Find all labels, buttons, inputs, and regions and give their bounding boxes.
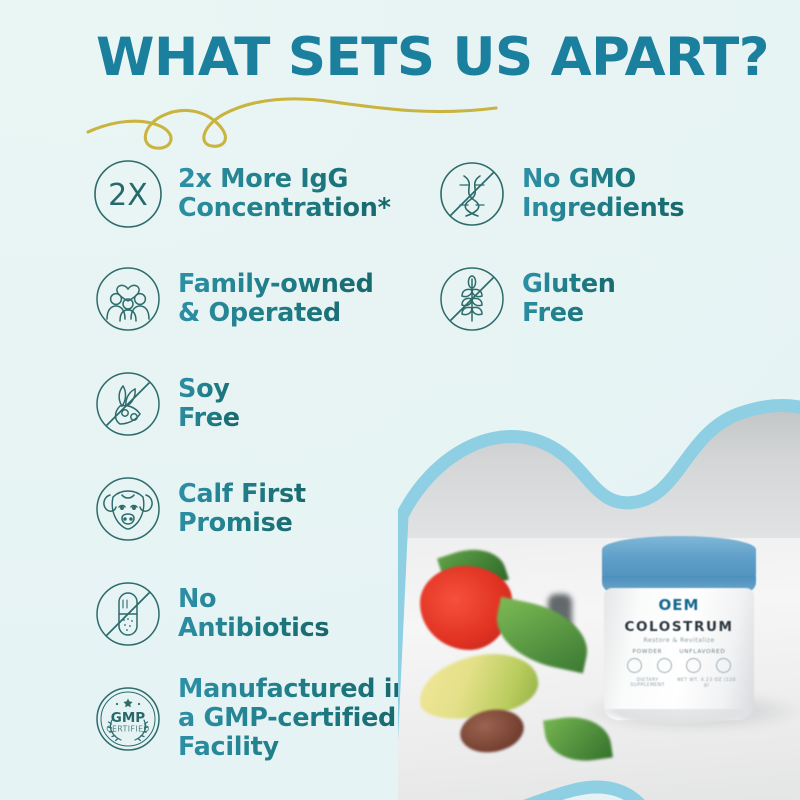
colostrum-jar: OEM COLOSTRUM Restore & Revitalize POWDE…: [598, 536, 760, 726]
product-photo-frame: OEM COLOSTRUM Restore & Revitalize POWDE…: [398, 398, 800, 800]
jar-supplement-text: DIETARY SUPPLEMENT: [620, 678, 675, 688]
jar-product-name: COLOSTRUM: [614, 619, 744, 635]
no-gluten-wheat-icon: [436, 263, 508, 335]
feature-label: Family-owned & Operated: [178, 270, 374, 328]
gmp-certified-badge-icon: GMP CERTIFIED: [92, 683, 164, 755]
product-photo-blob: OEM COLOSTRUM Restore & Revitalize POWDE…: [398, 398, 800, 800]
feature-calf-first-promise[interactable]: Calf First Promise: [92, 473, 306, 545]
cow-head-icon: [92, 473, 164, 545]
feature-label: No Antibiotics: [178, 585, 329, 643]
jar-label: OEM COLOSTRUM Restore & Revitalize POWDE…: [614, 596, 744, 688]
jar-tagline: Restore & Revitalize: [614, 637, 744, 644]
feature-gluten-free[interactable]: Gluten Free: [436, 263, 616, 335]
2x-icon-text: 2X: [108, 178, 148, 213]
feature-label: 2x More IgG Concentration*: [178, 165, 391, 223]
no-gmo-dna-icon: [436, 158, 508, 230]
2x-circle-icon: 2X: [92, 158, 164, 230]
feature-no-gmo[interactable]: No GMO Ingredients: [436, 158, 684, 230]
jar-brand: OEM: [614, 596, 744, 614]
jar-form: POWDER: [633, 649, 663, 655]
gold-squiggle-decoration: [84, 92, 504, 152]
feature-family-owned[interactable]: Family-owned & Operated: [92, 263, 374, 335]
feature-soy-free[interactable]: Soy Free: [92, 368, 240, 440]
jar-badge-icon-1: [627, 658, 642, 673]
feature-no-antibiotics[interactable]: No Antibiotics: [92, 578, 329, 650]
feature-label: Calf First Promise: [178, 480, 306, 538]
feature-label: Soy Free: [178, 375, 240, 433]
feature-gmp-facility[interactable]: GMP CERTIFIED Manufactured in a GMP-cert…: [92, 675, 410, 762]
feature-label: No GMO Ingredients: [522, 165, 684, 223]
jar-badge-icon-2: [657, 658, 672, 673]
no-antibiotics-pill-icon: [92, 578, 164, 650]
feature-label: Manufactured in a GMP-certified Facility: [178, 675, 410, 762]
jar-flavor: UNFLAVORED: [679, 649, 725, 655]
feature-label: Gluten Free: [522, 270, 616, 328]
no-soy-bean-icon: [92, 368, 164, 440]
infographic-canvas: WHAT SETS US APART? 2X 2x More IgG Conce…: [0, 0, 800, 800]
feature-igg-concentration[interactable]: 2X 2x More IgG Concentration*: [92, 158, 391, 230]
jar-net-weight: NET WT. 4.23 OZ (120 g): [675, 678, 738, 688]
jar-badge-icon-4: [716, 658, 731, 673]
page-title: WHAT SETS US APART?: [96, 30, 776, 86]
jar-badge-icon-3: [686, 658, 701, 673]
family-heart-icon: [92, 263, 164, 335]
